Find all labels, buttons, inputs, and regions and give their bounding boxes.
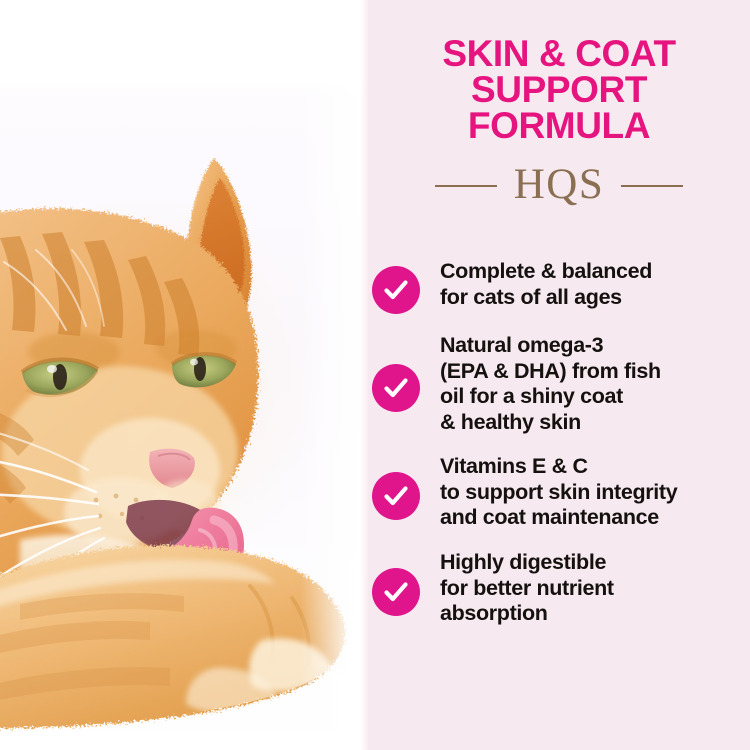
benefit-2-line-2: (EPA & DHA) from fish: [440, 359, 661, 385]
benefit-2-line-1: Natural omega-3: [440, 333, 661, 359]
benefit-4-line-3: absorption: [440, 601, 614, 627]
title-line-3: FORMULA: [368, 108, 750, 144]
cat-illustration: [0, 0, 368, 750]
benefit-1-line-2: for cats of all ages: [440, 285, 652, 311]
title-line-1: SKIN & COAT: [368, 36, 750, 72]
benefit-3-line-1: Vitamins E & C: [440, 454, 677, 480]
benefit-item-2: Natural omega-3 (EPA & DHA) from fish oi…: [368, 332, 750, 435]
benefit-text-4: Highly digestible for better nutrient ab…: [440, 549, 614, 627]
brand-rule-left: [435, 185, 497, 187]
check-circle-icon: [372, 364, 420, 412]
cat-photo: [0, 0, 368, 750]
benefit-text-3: Vitamins E & C to support skin integrity…: [440, 453, 677, 531]
benefit-item-1: Complete & balanced for cats of all ages: [368, 258, 750, 314]
brand-rule-right: [621, 185, 683, 187]
benefit-text-2: Natural omega-3 (EPA & DHA) from fish oi…: [440, 332, 661, 435]
benefits-list: Complete & balanced for cats of all ages…: [368, 258, 750, 627]
benefit-item-4: Highly digestible for better nutrient ab…: [368, 549, 750, 627]
benefit-4-line-1: Highly digestible: [440, 550, 614, 576]
benefit-2-line-4: & healthy skin: [440, 410, 661, 436]
benefit-3-line-3: and coat maintenance: [440, 505, 677, 531]
benefit-2-line-3: oil for a shiny coat: [440, 384, 661, 410]
benefit-1-line-1: Complete & balanced: [440, 259, 652, 285]
product-benefits-poster: SKIN & COAT SUPPORT FORMULA HQS Complete…: [0, 0, 750, 750]
benefit-3-line-2: to support skin integrity: [440, 480, 677, 506]
benefit-text-1: Complete & balanced for cats of all ages: [440, 258, 652, 310]
page-title: SKIN & COAT SUPPORT FORMULA: [368, 36, 750, 144]
brand-mark-hqs: HQS: [514, 163, 605, 209]
title-line-2: SUPPORT: [368, 72, 750, 108]
brand-lockup: HQS: [368, 163, 750, 209]
benefit-4-line-2: for better nutrient: [440, 576, 614, 602]
check-circle-icon: [372, 266, 420, 314]
check-circle-icon: [372, 472, 420, 520]
benefit-item-3: Vitamins E & C to support skin integrity…: [368, 453, 750, 531]
check-circle-icon: [372, 568, 420, 616]
